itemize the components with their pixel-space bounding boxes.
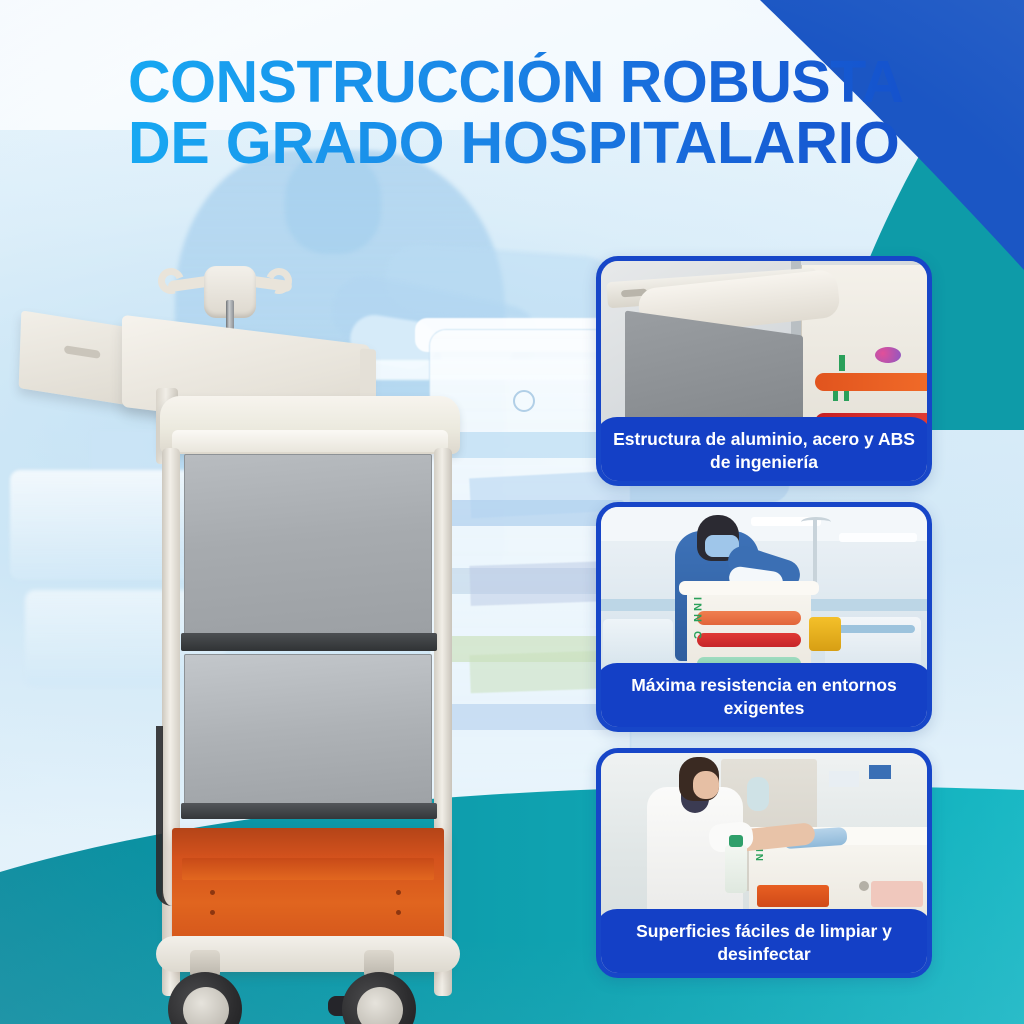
bin-screw	[210, 910, 215, 915]
tray-slot	[64, 345, 100, 359]
photo-wall-sign	[829, 771, 859, 787]
poster-canvas: CONSTRUCCIÓN ROBUSTA DE GRADO HOSPITALAR…	[0, 0, 1024, 1024]
spray-bottle-cap	[729, 835, 743, 847]
ceiling-light	[839, 533, 917, 542]
photo-drawer-stripe-orange	[815, 373, 927, 391]
cart-top-lip	[172, 430, 448, 452]
page-title: CONSTRUCCIÓN ROBUSTA DE GRADO HOSPITALAR…	[0, 52, 1024, 174]
bin-screw	[396, 910, 401, 915]
cart-drawer-lower	[184, 654, 432, 806]
photo-wall-sign-blue	[869, 765, 891, 779]
brand-side-text: IN	[753, 849, 764, 863]
cart-drawer-band-orange	[697, 611, 801, 625]
technician-face	[693, 771, 719, 799]
feature-card-list: Estructura de aluminio, acero y ABS de i…	[596, 256, 932, 994]
feature-card-cleaning[interactable]: IN Superficies fáciles de limpiar y desi…	[596, 748, 932, 978]
medical-cart-hero-image	[18, 248, 558, 1008]
feature-caption-materials: Estructura de aluminio, acero y ABS de i…	[596, 417, 932, 486]
bin-screw	[210, 890, 215, 895]
brand-letter-i	[839, 355, 845, 371]
title-line-1: CONSTRUCCIÓN ROBUSTA	[128, 52, 1024, 113]
feature-card-resistance[interactable]: INN C Máxima resistencia en entornos exi…	[596, 502, 932, 732]
cart-body	[146, 396, 468, 1016]
brand-logo-icon	[875, 347, 901, 363]
photo-bed-left	[603, 619, 673, 665]
cart-lock-knob	[859, 881, 869, 891]
bin-screw	[396, 890, 401, 895]
cart-caster-left	[168, 950, 242, 1024]
spray-bottle	[725, 845, 747, 893]
feature-card-materials[interactable]: Estructura de aluminio, acero y ABS de i…	[596, 256, 932, 486]
cart-drawer-band-red	[697, 633, 801, 647]
photo-door-window	[747, 777, 769, 811]
cart-caster-right	[342, 950, 416, 1024]
title-line-2: DE GRADO HOSPITALARIO	[128, 113, 1024, 174]
bed-rail	[829, 625, 915, 633]
feature-caption-cleaning: Superficies fáciles de limpiar y desinfe…	[596, 909, 932, 978]
cart-drawer-upper	[184, 454, 432, 636]
cart-side-panel	[871, 881, 923, 907]
sharps-container	[809, 617, 841, 651]
cart-top	[679, 581, 819, 595]
photo-iv-pole	[813, 519, 817, 589]
cart-drawer-orange	[757, 885, 829, 907]
feature-caption-resistance: Máxima resistencia en entornos exigentes	[596, 663, 932, 732]
brand-side-text: INN C	[691, 597, 703, 642]
cart-power-cable	[156, 726, 172, 906]
bin-inner-lip	[182, 858, 434, 880]
